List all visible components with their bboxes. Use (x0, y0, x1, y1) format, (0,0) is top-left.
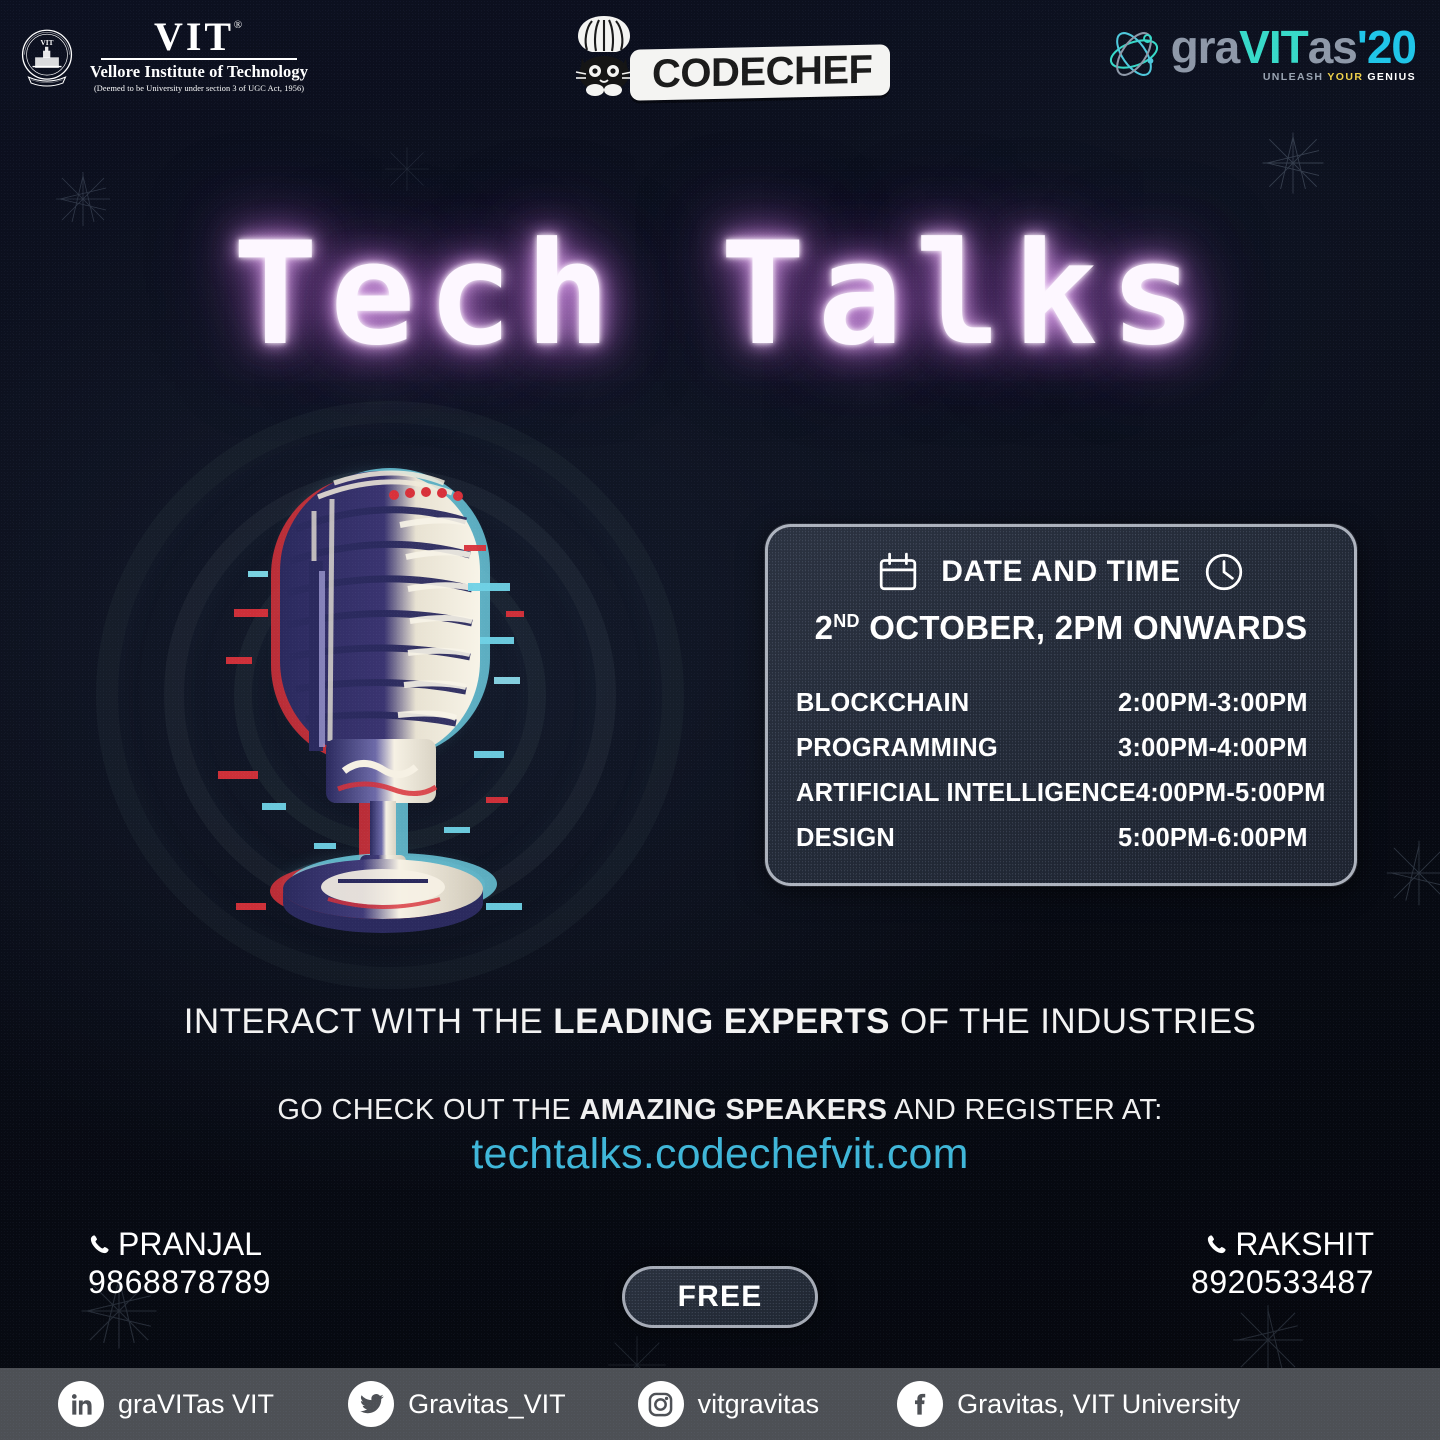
gravitas-part-vit: VIT (1239, 24, 1308, 70)
schedule-topic: PROGRAMMING (796, 734, 998, 763)
instagram-icon (638, 1381, 684, 1427)
registered-mark: ® (234, 20, 245, 30)
date-rest: OCTOBER, 2PM ONWARDS (860, 609, 1308, 646)
social-instagram[interactable]: vitgravitas (638, 1381, 820, 1427)
registration-url[interactable]: techtalks.codechefvit.com (0, 1130, 1440, 1179)
experts-post: OF THE INDUSTRIES (890, 1002, 1256, 1041)
speakers-highlight: AMAZING SPEAKERS (580, 1094, 888, 1126)
schedule-row: PROGRAMMING 3:00PM-4:00PM (796, 734, 1326, 763)
contact-rakshit: RAKSHIT 8920533487 (1191, 1226, 1374, 1301)
sparkle-icon (1382, 836, 1440, 910)
gravitas-tagline: UNLEASH YOUR GENIUS (1263, 71, 1416, 83)
contact-name-row: RAKSHIT (1191, 1226, 1374, 1263)
facebook-icon (897, 1381, 943, 1427)
poster-root: VIT VIT® Vellore Institute of Technology… (0, 0, 1440, 1440)
schedule-topic: ARTIFICIAL INTELLIGENCE (796, 779, 1136, 808)
speakers-pre: GO CHECK OUT THE (277, 1094, 579, 1126)
contact-name: RAKSHIT (1235, 1226, 1374, 1263)
linkedin-icon (58, 1381, 104, 1427)
atom-orbit-icon (1105, 25, 1163, 83)
schedule-row: DESIGN 5:00PM-6:00PM (796, 824, 1326, 853)
free-badge: FREE (622, 1266, 818, 1328)
schedule-time: 3:00PM-4:00PM (1118, 734, 1326, 763)
twitter-icon (348, 1381, 394, 1427)
social-handle: graVITas VIT (118, 1389, 274, 1420)
date-and-time-card: DATE AND TIME 2ND OCTOBER, 2PM ONWARDS B… (765, 524, 1357, 886)
social-facebook[interactable]: Gravitas, VIT University (897, 1381, 1240, 1427)
date-number: 2 (815, 609, 834, 646)
gravitas-wordmark: gra VIT as '20 (1171, 24, 1416, 70)
contact-pranjal: PRANJAL 9868878789 (88, 1226, 271, 1301)
speakers-post: AND REGISTER AT: (887, 1094, 1162, 1126)
phone-icon (1205, 1233, 1228, 1256)
vit-seal-icon: VIT (14, 23, 80, 89)
gravitas-logo: gra VIT as '20 UNLEASH YOUR GENIUS (1105, 24, 1416, 83)
schedule-time: 5:00PM-6:00PM (1118, 824, 1326, 853)
social-twitter[interactable]: Gravitas_VIT (348, 1381, 566, 1427)
codechef-logo: CODECHEF (570, 14, 890, 98)
gravitas-part-year: '20 (1357, 24, 1416, 70)
event-date-time: 2ND OCTOBER, 2PM ONWARDS (768, 609, 1354, 647)
phone-icon (88, 1233, 111, 1256)
schedule-time: 2:00PM-3:00PM (1118, 689, 1326, 718)
codechef-wordmark: CODECHEF (630, 44, 890, 100)
vit-deemed-note: (Deemed to be University under section 3… (94, 84, 304, 93)
schedule-row: BLOCKCHAIN 2:00PM-3:00PM (796, 689, 1326, 718)
gravitas-part-gra: gra (1171, 24, 1240, 70)
experts-tagline: INTERACT WITH THE LEADING EXPERTS OF THE… (0, 1002, 1440, 1042)
schedule-topic: BLOCKCHAIN (796, 689, 969, 718)
clock-icon (1203, 551, 1245, 593)
svg-text:VIT: VIT (41, 38, 54, 46)
schedule-row: ARTIFICIAL INTELLIGENCE 4:00PM-5:00PM (796, 779, 1326, 808)
speakers-tagline: GO CHECK OUT THE AMAZING SPEAKERS AND RE… (0, 1094, 1440, 1127)
date-ordinal: ND (833, 611, 860, 631)
contact-number: 8920533487 (1191, 1264, 1374, 1301)
contact-name-row: PRANJAL (88, 1226, 271, 1263)
gravitas-part-as: as (1308, 24, 1357, 70)
vit-acronym: VIT® (154, 18, 244, 56)
sparkle-icon (1258, 128, 1328, 198)
contact-number: 9868878789 (88, 1264, 271, 1301)
poster-header: VIT VIT® Vellore Institute of Technology… (0, 0, 1440, 125)
page-title: Tech Talks (0, 212, 1440, 377)
card-header: DATE AND TIME (768, 551, 1354, 593)
social-handle: Gravitas_VIT (408, 1389, 566, 1420)
card-heading: DATE AND TIME (941, 555, 1180, 589)
codechef-chef-cat-icon (570, 14, 638, 98)
experts-highlight: LEADING EXPERTS (553, 1002, 890, 1041)
vit-full-name: Vellore Institute of Technology (90, 62, 308, 82)
social-handle: Gravitas, VIT University (957, 1389, 1240, 1420)
microphone-illustration (90, 395, 690, 995)
sparkle-icon (380, 142, 434, 196)
tagline-word-unleash: UNLEASH (1263, 71, 1324, 83)
experts-pre: INTERACT WITH THE (184, 1002, 554, 1041)
schedule-list: BLOCKCHAIN 2:00PM-3:00PM PROGRAMMING 3:0… (796, 689, 1326, 853)
contact-name: PRANJAL (118, 1226, 262, 1263)
tagline-word-your: YOUR (1327, 71, 1363, 83)
social-linkedin[interactable]: graVITas VIT (58, 1381, 274, 1427)
schedule-time: 4:00PM-5:00PM (1136, 779, 1344, 808)
calendar-icon (877, 551, 919, 593)
retro-microphone-glitch-icon (218, 451, 548, 951)
vit-logo: VIT VIT® Vellore Institute of Technology… (14, 18, 308, 93)
social-handle: vitgravitas (698, 1389, 820, 1420)
social-footer-bar: graVITas VIT Gravitas_VIT vitgravitas (0, 1368, 1440, 1440)
tagline-word-genius: GENIUS (1367, 71, 1416, 83)
schedule-topic: DESIGN (796, 824, 895, 853)
